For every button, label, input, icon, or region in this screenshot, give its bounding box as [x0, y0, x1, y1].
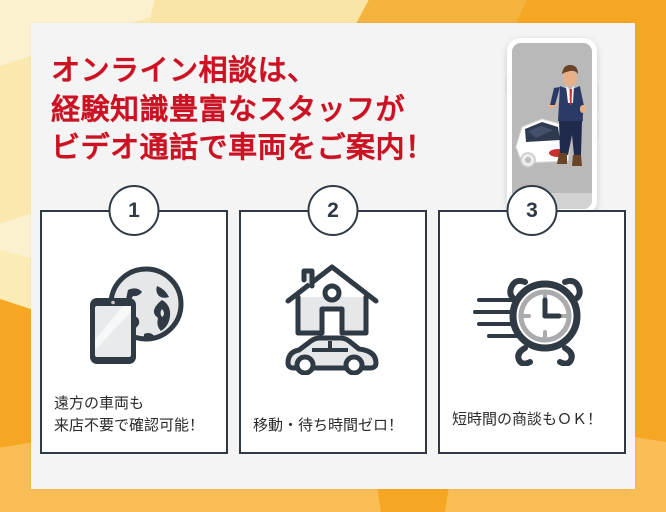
phone-side-button-left	[505, 78, 507, 92]
house-car-icon	[241, 250, 425, 378]
feature-card-2[interactable]: 2	[239, 210, 427, 454]
card-number-badge-1: 1	[109, 185, 160, 236]
feature-card-1[interactable]: 1	[40, 210, 228, 454]
feature-card-list: 1	[40, 210, 626, 454]
card-caption-2: 移動・待ち時間ゼロ！	[253, 415, 415, 436]
house-shape	[288, 267, 376, 333]
feature-card-3[interactable]: 3	[438, 210, 626, 454]
car-shape	[288, 338, 376, 373]
promo-banner: オンライン相談は、 経験知識豊富なスタッフが ビデオ通話で車両をご案内！	[0, 0, 666, 512]
globe-smartphone-icon	[42, 250, 226, 378]
phone-side-button-1	[597, 86, 599, 112]
card-number-badge-2: 2	[308, 185, 359, 236]
phone-screen	[512, 43, 592, 209]
staff-presenting-car-illustration	[512, 43, 592, 209]
alarm-clock-speed-icon	[440, 250, 624, 378]
phone-side-button-2	[597, 120, 599, 138]
card-caption-3: 短時間の商談もＯＫ！	[452, 409, 614, 430]
headline: オンライン相談は、 経験知識豊富なスタッフが ビデオ通話で車両をご案内！	[51, 52, 435, 168]
card-caption-1: 遠方の車両も 来店不要で確認可能！	[54, 393, 216, 436]
card-number-badge-3: 3	[507, 185, 558, 236]
